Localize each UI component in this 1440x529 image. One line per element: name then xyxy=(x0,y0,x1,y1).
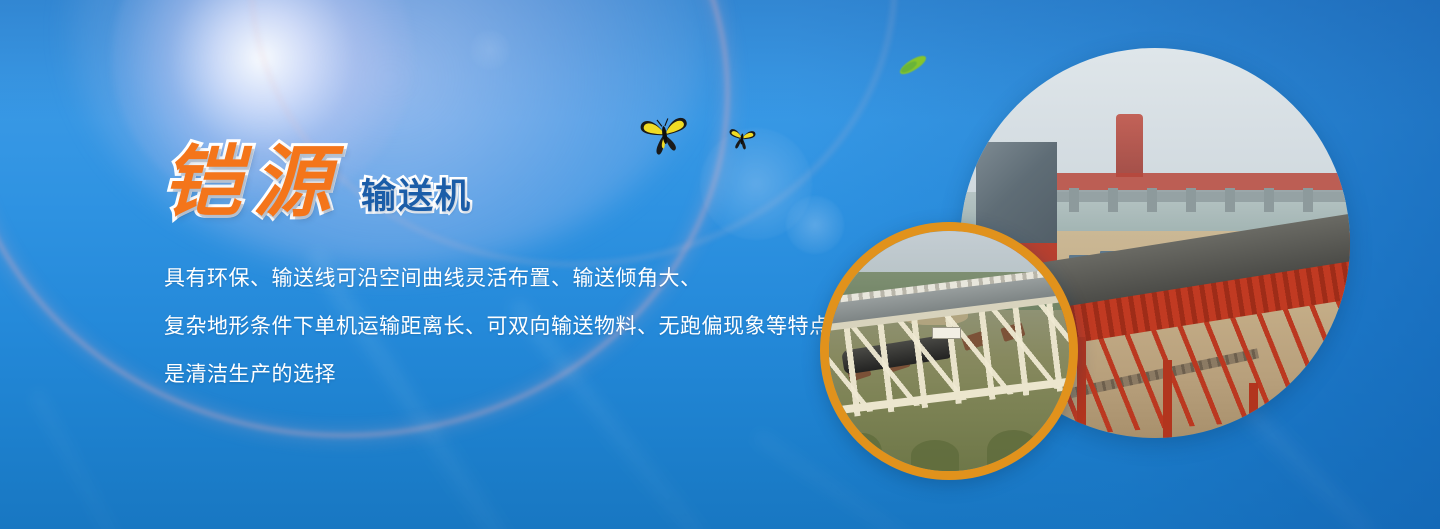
photo-pier xyxy=(1108,188,1118,211)
photo-pier xyxy=(1147,188,1157,211)
photo-pier xyxy=(1069,188,1079,211)
photo-grass-tuft xyxy=(987,430,1040,471)
photo-grass-tuft xyxy=(843,433,881,471)
brand-name: 铠源 xyxy=(163,144,343,222)
photo-pier xyxy=(1264,188,1274,211)
description-line-1: 具有环保、输送线可沿空间曲线灵活布置、输送倾角大、 xyxy=(164,255,884,303)
photo-grass-tuft xyxy=(911,440,959,471)
photo-small-truss-conveyor xyxy=(820,222,1078,480)
photo-small-content xyxy=(829,231,1069,471)
photo-conveyor-column xyxy=(1077,337,1086,438)
leaf-icon xyxy=(896,52,930,83)
photo-pier xyxy=(1225,188,1235,211)
photo-pier xyxy=(1303,188,1313,211)
photo-ship-loader xyxy=(1116,114,1143,176)
description-line-2: 复杂地形条件下单机运输距离长、可双向输送物料、无跑偏现象等特点， xyxy=(164,303,884,351)
banner-description: 具有环保、输送线可沿空间曲线灵活布置、输送倾角大、 复杂地形条件下单机运输距离长… xyxy=(164,255,884,399)
brand-lockup: 铠源 输送机 xyxy=(163,144,472,222)
photo-pier xyxy=(1186,188,1196,211)
description-line-3: 是清洁生产的选择 xyxy=(164,351,884,399)
hero-banner: 铠源 输送机 具有环保、输送线可沿空间曲线灵活布置、输送倾角大、 复杂地形条件下… xyxy=(0,0,1440,529)
photo-conveyor-column xyxy=(1249,383,1258,438)
butterfly-large-icon xyxy=(638,110,692,163)
photo-conveyor-column xyxy=(1163,360,1172,438)
butterfly-small-icon xyxy=(727,124,757,157)
product-name: 输送机 xyxy=(361,179,472,214)
lens-flare-dot-icon xyxy=(470,30,510,70)
photo-equipment-label xyxy=(932,327,960,339)
